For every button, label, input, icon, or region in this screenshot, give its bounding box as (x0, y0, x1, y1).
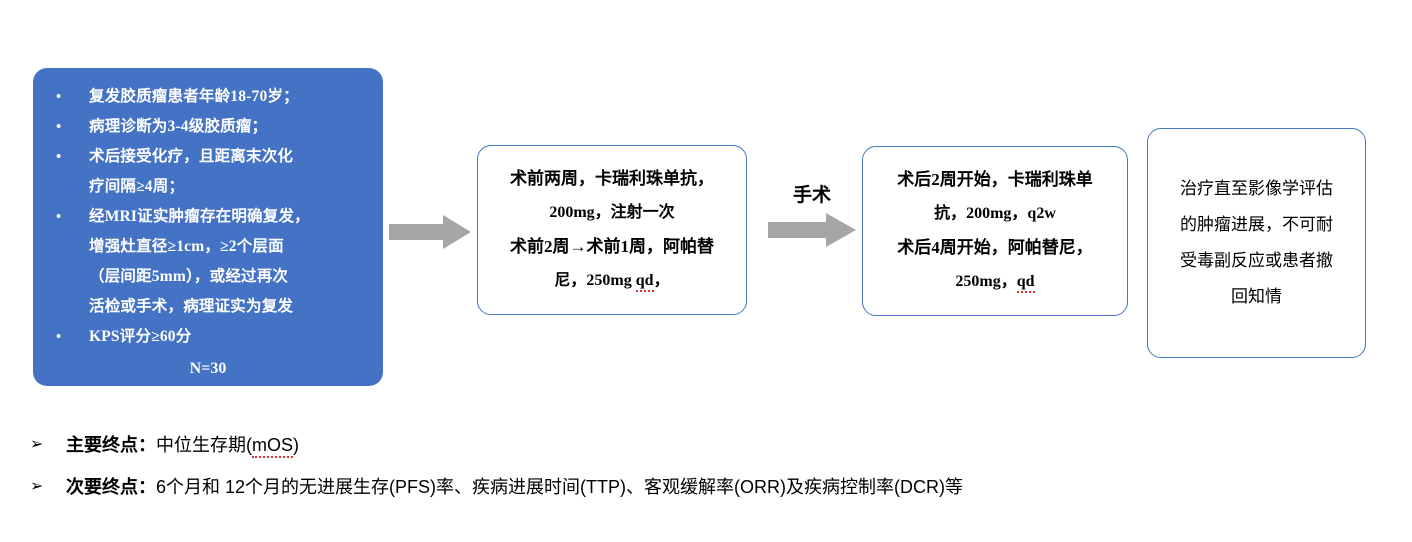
list-item-text: 经MRI证实肿瘤存在明确复发， (89, 208, 310, 225)
bullet-icon: • (56, 112, 61, 142)
endpoints-section: ➢ 主要终点：中位生存期(mOS) ➢ 次要终点：6个月和 12个月的无进展生存… (28, 432, 1368, 516)
list-item: • 病理诊断为3-4级胶质瘤； (43, 112, 373, 142)
list-item-continuation: （层间距5mm），或经过再次 (43, 262, 373, 292)
list-item: • 复发胶质瘤患者年龄18-70岁； (43, 82, 373, 112)
continuation-line: 的肿瘤进展，不可耐 (1156, 207, 1357, 243)
list-item-continuation: 活检或手术，病理证实为复发 (43, 292, 373, 322)
bullet-icon: • (56, 82, 61, 112)
list-item: • 经MRI证实肿瘤存在明确复发， (43, 202, 373, 232)
post-surgery-treatment-content: 术后2周开始，卡瑞利珠单 抗，200mg，q2w 术后4周开始，阿帕替尼， 25… (863, 163, 1127, 299)
arrow-bullet-icon: ➢ (30, 474, 43, 500)
bullet-icon: • (56, 202, 61, 232)
list-item-text: KPS评分≥60分 (89, 328, 191, 345)
bullet-icon: • (56, 322, 61, 352)
primary-endpoint-label: 主要终点： (66, 435, 156, 455)
treatment-continuation-content: 治疗直至影像学评估 的肿瘤进展，不可耐 受毒副反应或患者撤 回知情 (1148, 171, 1365, 315)
treatment-line: 抗，200mg，q2w (871, 197, 1119, 231)
secondary-endpoint-row: ➢ 次要终点：6个月和 12个月的无进展生存(PFS)率、疾病进展时间(TTP)… (28, 474, 1368, 500)
treatment-line: 术前2周→术前1周，阿帕替 (486, 230, 738, 264)
arrow-right-icon (389, 215, 471, 249)
treatment-line: 术前两周，卡瑞利珠单抗， (486, 162, 738, 196)
treatment-line: 术后4周开始，阿帕替尼， (871, 231, 1119, 265)
spellcheck-underline: mOS (252, 435, 293, 458)
treatment-continuation-box: 治疗直至影像学评估 的肿瘤进展，不可耐 受毒副反应或患者撤 回知情 (1147, 128, 1366, 358)
continuation-line: 受毒副反应或患者撤 (1156, 243, 1357, 279)
arrow-right-icon (768, 213, 856, 247)
list-item: • KPS评分≥60分 (43, 322, 373, 352)
treatment-line: 200mg，注射一次 (486, 196, 738, 230)
pre-surgery-treatment-content: 术前两周，卡瑞利珠单抗， 200mg，注射一次 术前2周→术前1周，阿帕替 尼，… (478, 162, 746, 298)
spellcheck-underline: qd (636, 272, 654, 292)
flowchart-canvas: • 复发胶质瘤患者年龄18-70岁； • 病理诊断为3-4级胶质瘤； • 术后接… (0, 0, 1412, 542)
surgery-step-label: 手术 (772, 180, 852, 207)
primary-endpoint-text: 中位生存期(mOS) (156, 435, 299, 458)
arrow-bullet-icon: ➢ (30, 432, 43, 458)
treatment-line: 250mg，qd (871, 265, 1119, 299)
eligibility-criteria-box: • 复发胶质瘤患者年龄18-70岁； • 病理诊断为3-4级胶质瘤； • 术后接… (33, 68, 383, 386)
list-item-text: 增强灶直径≥1cm，≥2个层面 (89, 238, 284, 255)
list-item-text: 疗间隔≥4周； (89, 178, 184, 195)
post-surgery-treatment-box: 术后2周开始，卡瑞利珠单 抗，200mg，q2w 术后4周开始，阿帕替尼， 25… (862, 146, 1128, 316)
pre-surgery-treatment-box: 术前两周，卡瑞利珠单抗， 200mg，注射一次 术前2周→术前1周，阿帕替 尼，… (477, 145, 747, 315)
treatment-line: 尼，250mg qd， (486, 264, 738, 298)
spellcheck-underline: qd (1017, 273, 1035, 293)
list-item-continuation: 疗间隔≥4周； (43, 172, 373, 202)
list-item-text: 病理诊断为3-4级胶质瘤； (89, 118, 267, 135)
list-item-text: 复发胶质瘤患者年龄18-70岁； (89, 88, 299, 105)
bullet-icon: • (56, 142, 61, 172)
list-item-text: （层间距5mm），或经过再次 (89, 268, 288, 285)
treatment-line: 术后2周开始，卡瑞利珠单 (871, 163, 1119, 197)
list-item-text: 活检或手术，病理证实为复发 (89, 298, 293, 315)
primary-endpoint-row: ➢ 主要终点：中位生存期(mOS) (28, 432, 1368, 458)
secondary-endpoint-label: 次要终点： (66, 477, 156, 497)
eligibility-criteria-list: • 复发胶质瘤患者年龄18-70岁； • 病理诊断为3-4级胶质瘤； • 术后接… (43, 82, 373, 352)
continuation-line: 治疗直至影像学评估 (1156, 171, 1357, 207)
continuation-line: 回知情 (1156, 279, 1357, 315)
list-item-text: 术后接受化疗，且距离末次化 (89, 148, 293, 165)
sample-size-label: N=30 (43, 354, 373, 384)
list-item-continuation: 增强灶直径≥1cm，≥2个层面 (43, 232, 373, 262)
list-item: • 术后接受化疗，且距离末次化 (43, 142, 373, 172)
secondary-endpoint-text: 6个月和 12个月的无进展生存(PFS)率、疾病进展时间(TTP)、客观缓解率(… (156, 477, 963, 497)
